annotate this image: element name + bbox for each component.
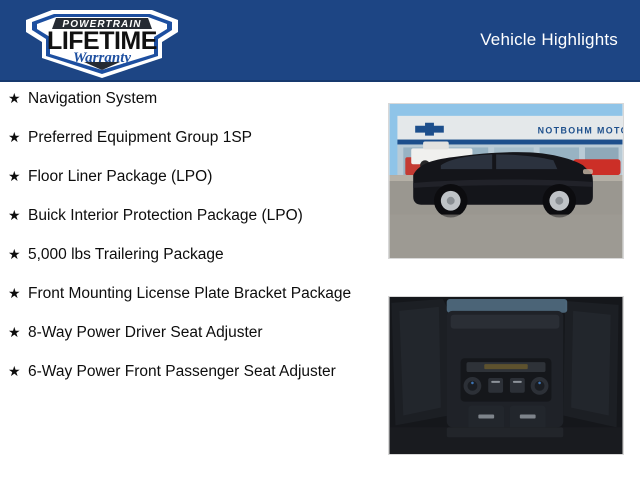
list-item-label: Buick Interior Protection Package (LPO): [28, 207, 303, 224]
list-item: ★ Front Mounting License Plate Bracket P…: [0, 283, 372, 304]
mode-button: [510, 378, 525, 393]
logo-warranty-text: Warranty: [73, 50, 131, 66]
list-item: ★ Floor Liner Package (LPO): [0, 166, 372, 187]
vehicle-interior-photo[interactable]: [388, 296, 624, 455]
console-top-trim: [451, 315, 560, 329]
list-item-label: 8-Way Power Driver Seat Adjuster: [28, 324, 263, 341]
list-item: ★ 5,000 lbs Trailering Package: [0, 244, 372, 265]
star-bullet-icon: ★: [8, 127, 21, 148]
list-item-label: Floor Liner Package (LPO): [28, 168, 212, 185]
star-bullet-icon: ★: [8, 88, 21, 109]
star-bullet-icon: ★: [8, 166, 21, 187]
list-item-label: 6-Way Power Front Passenger Seat Adjuste…: [28, 363, 336, 380]
list-item-label: 5,000 lbs Trailering Package: [28, 246, 224, 263]
star-bullet-icon: ★: [8, 244, 21, 265]
list-item: ★ 8-Way Power Driver Seat Adjuster: [0, 322, 372, 343]
star-bullet-icon: ★: [8, 361, 21, 382]
window-glare: [447, 299, 567, 313]
powertrain-lifetime-warranty-logo: POWERTRAIN LIFETIME Warranty: [22, 2, 182, 80]
star-bullet-icon: ★: [8, 322, 21, 343]
list-item-label: Front Mounting License Plate Bracket Pac…: [28, 285, 351, 302]
star-bullet-icon: ★: [8, 283, 21, 304]
list-item: ★ 6-Way Power Front Passenger Seat Adjus…: [0, 361, 372, 382]
page-title: Vehicle Highlights: [480, 30, 618, 50]
list-item: ★ Navigation System: [0, 88, 372, 109]
list-item: ★ Preferred Equipment Group 1SP: [0, 127, 372, 148]
page-header: POWERTRAIN LIFETIME Warranty Vehicle Hig…: [0, 0, 640, 82]
fan-button: [488, 378, 503, 393]
vehicle-exterior-photo[interactable]: NOTBOHM MOTORS: [388, 103, 624, 259]
list-item-label: Preferred Equipment Group 1SP: [28, 129, 252, 146]
vehicle-highlights-page: POWERTRAIN LIFETIME Warranty Vehicle Hig…: [0, 0, 640, 480]
list-item-label: Navigation System: [28, 90, 157, 107]
vehicle-highlights-list: ★ Navigation System ★ Preferred Equipmen…: [0, 88, 372, 400]
star-bullet-icon: ★: [8, 205, 21, 226]
list-item: ★ Buick Interior Protection Package (LPO…: [0, 205, 372, 226]
tail-light: [583, 169, 593, 174]
dealership-sign-text: NOTBOHM MOTORS: [538, 126, 623, 136]
